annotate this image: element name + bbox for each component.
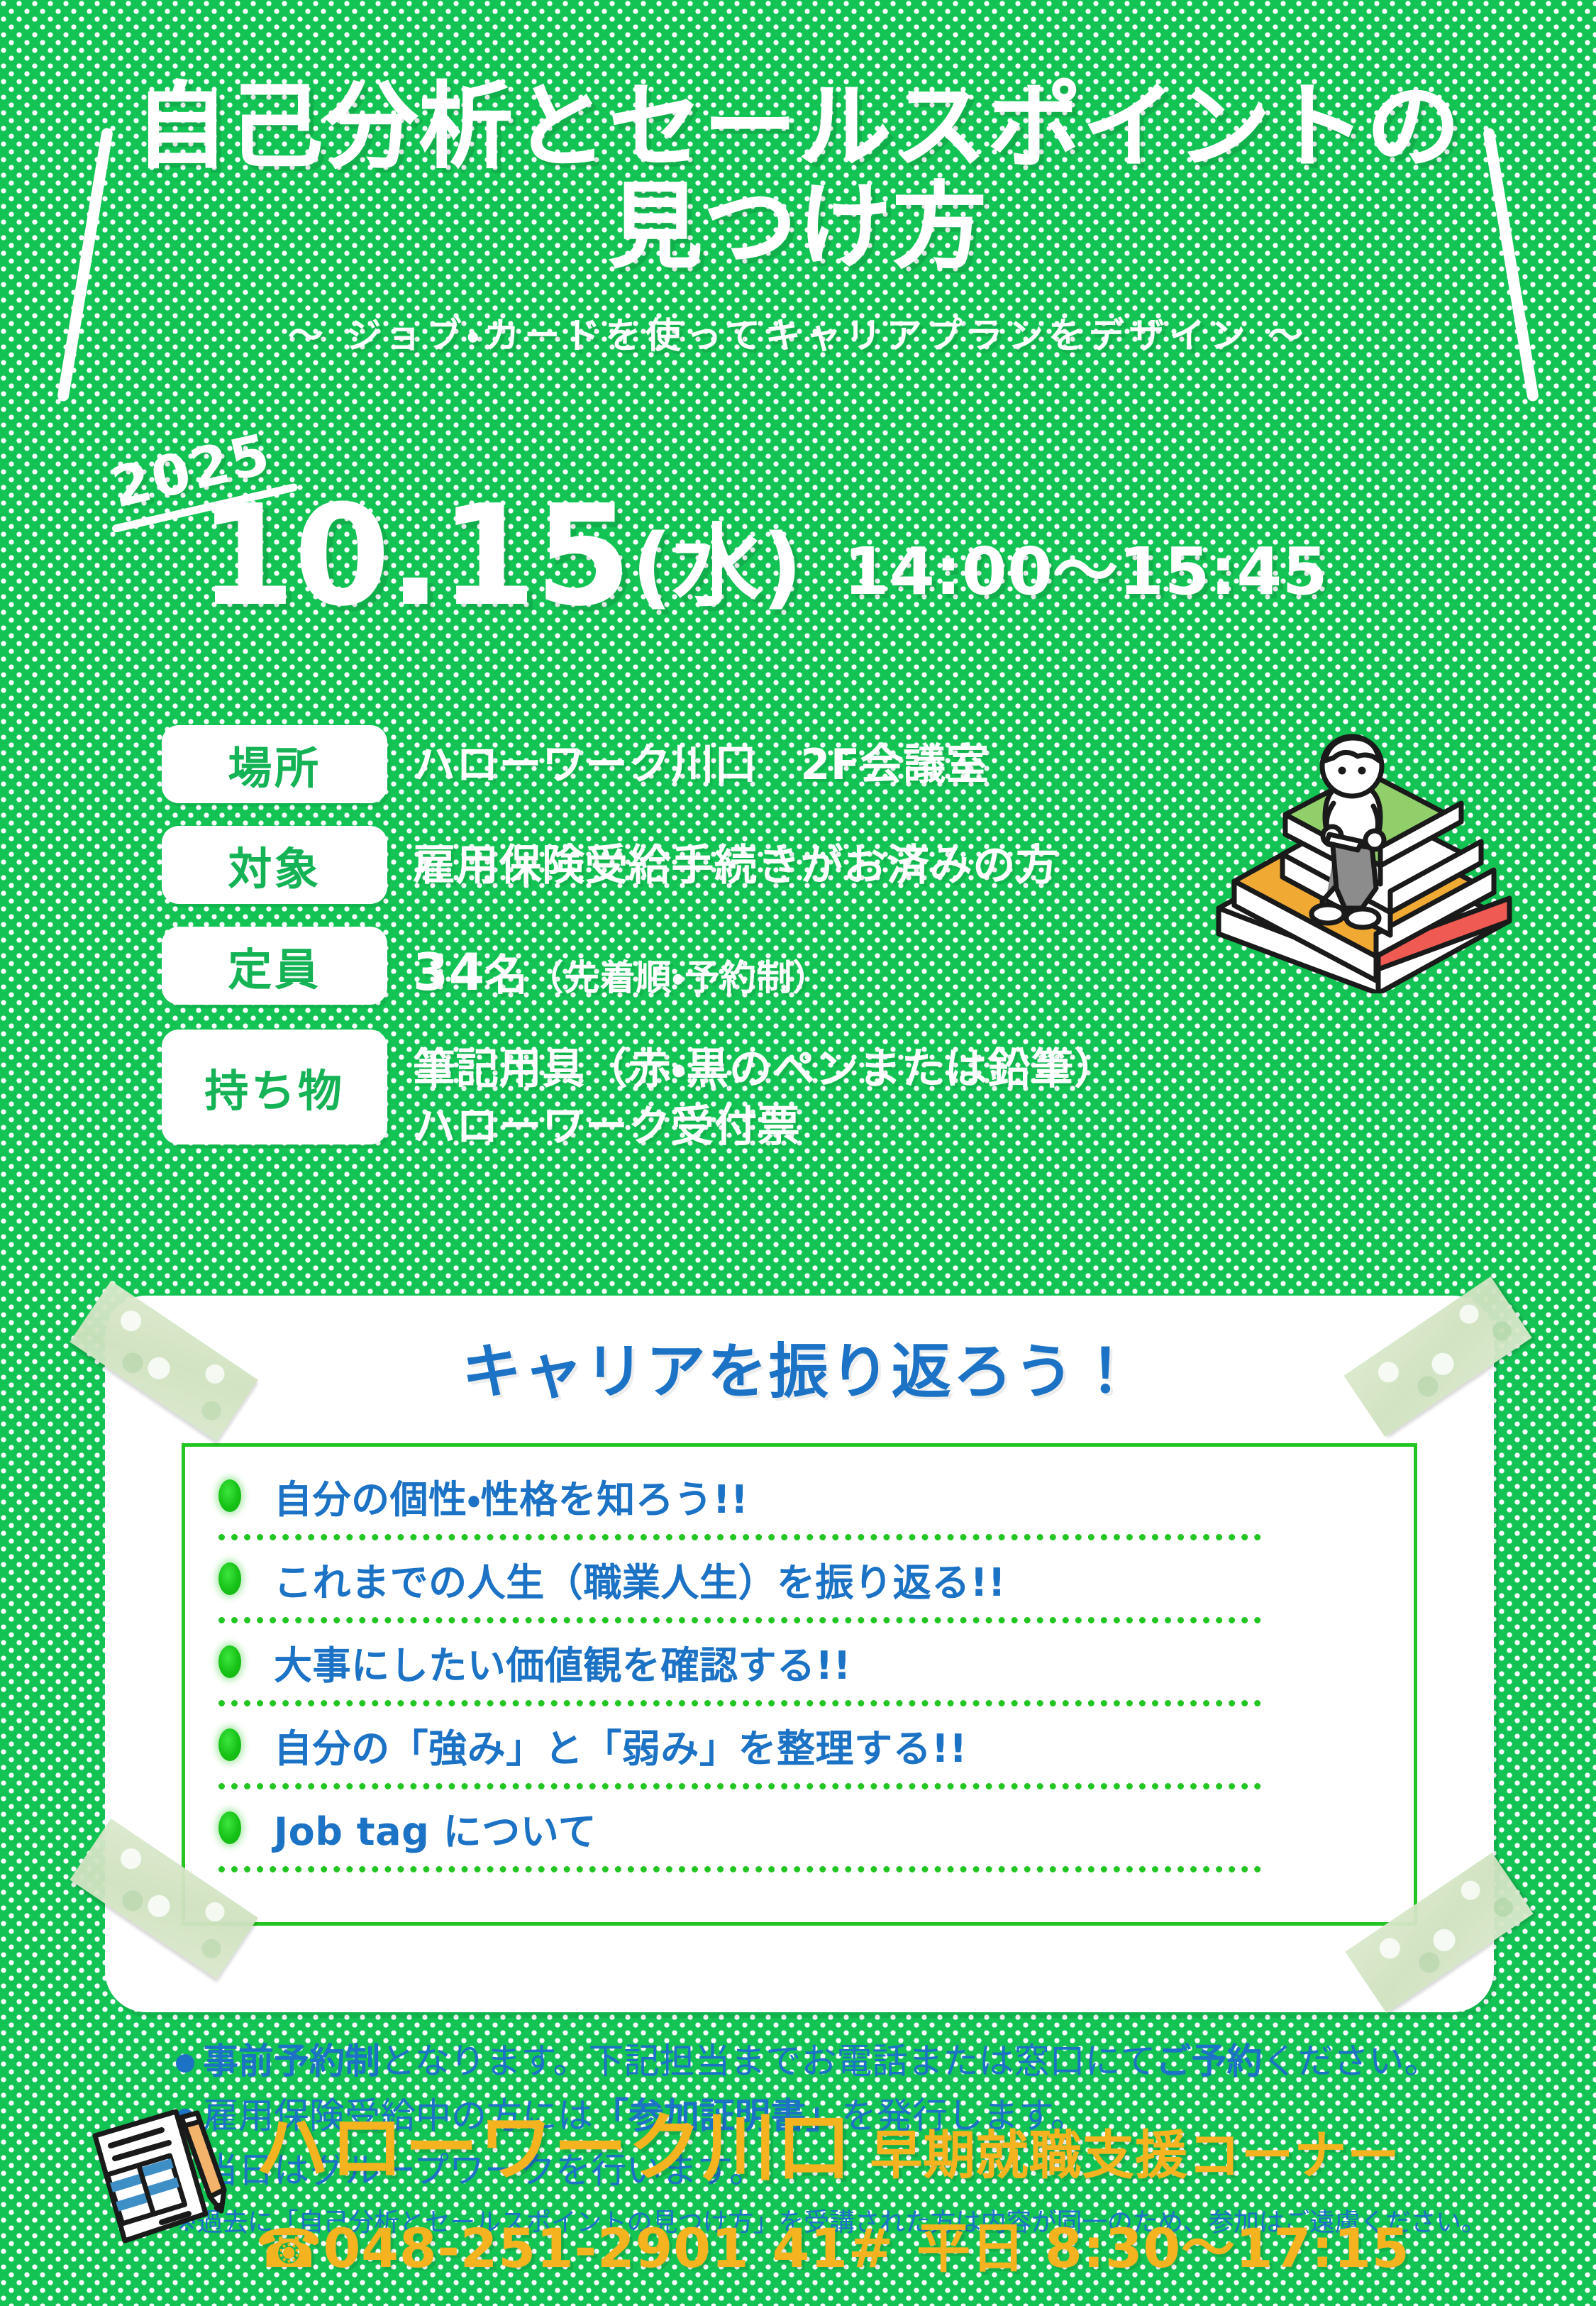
document-with-pencil-icon [85,2102,234,2251]
bullet-dot-icon [218,1728,241,1761]
info-value-bring: 筆記用具（赤・黒のペンまたは鉛筆） ハローワーク受付票 [387,1030,1197,1156]
footer-phone-number: 048-251-2901 [323,2217,749,2280]
info-label-venue: 場所 [162,725,387,803]
footer-text-group: ハローワーク川口 早期就職支援コーナー ☎048-251-290141#平日 8… [255,2087,1409,2283]
bullet-dot-icon [218,1811,241,1844]
poster-title-line-1: 自己分析とセールスポイントの [0,79,1596,175]
list-item-label: これまでの人生（職業人生）を振り返る!! [274,1551,1006,1607]
bring-line-2: ハローワーク受付票 [413,1098,1197,1156]
footer-extension: 41# [772,2217,894,2280]
event-time: 14:00〜15:45 [843,539,1328,619]
list-item-label: 自分の「強み」と「弱み」を整理する!! [274,1717,968,1773]
list-item: 大事にしたい価値観を確認する!! [218,1623,1382,1700]
info-label-audience: 対象 [162,826,387,904]
event-day-of-week: (水) [631,522,802,619]
event-date-block: 2025 10.15 (水) 14:00〜15:45 [106,451,1497,664]
info-row-bring: 持ち物 筆記用具（赤・黒のペンまたは鉛筆） ハローワーク受付票 [162,1030,1197,1156]
list-item: 自分の個性・性格を知ろう!! [218,1457,1382,1534]
bullet-dot-icon [218,1479,241,1512]
list-item-label: 大事にしたい価値観を確認する!! [274,1634,851,1690]
list-item: これまでの人生（職業人生）を振り返る!! [218,1540,1382,1617]
footer-organization: ハローワーク川口 [255,2087,851,2195]
footer-hours: 平日 8:30〜17:15 [916,2217,1409,2280]
bring-line-1: 筆記用具（赤・黒のペンまたは鉛筆） [413,1044,1117,1094]
list-item-label: 自分の個性・性格を知ろう!! [274,1468,748,1524]
list-item: 自分の「強み」と「弱み」を整理する!! [218,1706,1382,1783]
capacity-number: 34 [413,942,485,1002]
person-on-books-illustration [1197,695,1531,993]
capacity-note: （先着順・予約制） [528,957,828,998]
poster-subtitle: 〜 ジョブ・カードを使ってキャリアプランをデザイン 〜 [0,307,1596,358]
list-item-label: Job tag について [274,1800,597,1856]
info-row-venue: 場所 ハローワーク川口 2F会議室 [162,725,1197,803]
info-value-audience: 雇用保険受給手続きがお済みの方 [387,826,1197,895]
poster-title-line-2: 見つけ方 [0,180,1596,275]
list-separator [218,1783,1261,1789]
panel-heading: キャリアを振り返ろう！ [105,1296,1494,1410]
telephone-icon: ☎ [255,2217,323,2280]
footer-contact-row: ☎048-251-290141#平日 8:30〜17:15 [255,2205,1409,2283]
capacity-unit: 名 [485,951,528,1000]
poster-canvas: 自己分析とセールスポイントの 見つけ方 〜 ジョブ・カードを使ってキャリアプラン… [0,0,1596,2306]
info-row-capacity: 定員 34名（先着順・予約制） [162,927,1197,1007]
career-review-panel: キャリアを振り返ろう！ 自分の個性・性格を知ろう!! これまでの人生（職業人生）… [105,1296,1494,2012]
bullet-dot-icon [218,1645,241,1678]
event-date-row: 10.15 (水) 14:00〜15:45 [199,494,1328,619]
info-label-capacity: 定員 [162,927,387,1005]
info-row-audience: 対象 雇用保険受給手続きがお済みの方 [162,826,1197,904]
footer-org-row: ハローワーク川口 早期就職支援コーナー [255,2087,1409,2195]
info-value-venue: ハローワーク川口 2F会議室 [387,725,1197,794]
event-date: 10.15 [199,494,630,619]
footer-department: 早期就職支援コーナー [870,2113,1400,2189]
info-value-capacity: 34名（先着順・予約制） [387,927,1197,1007]
event-info-list: 場所 ハローワーク川口 2F会議室 対象 雇用保険受給手続きがお済みの方 定員 … [162,725,1197,1156]
footer-contact-block: ハローワーク川口 早期就職支援コーナー ☎048-251-290141#平日 8… [0,2069,1596,2275]
list-item: Job tag について [218,1789,1382,1866]
list-separator [218,1700,1261,1706]
list-separator [218,1534,1261,1540]
title-block: 自己分析とセールスポイントの 見つけ方 〜 ジョブ・カードを使ってキャリアプラン… [0,43,1596,412]
list-separator [218,1866,1261,1872]
info-label-bring: 持ち物 [162,1030,387,1144]
bullet-dot-icon [218,1562,241,1595]
list-separator [218,1617,1261,1623]
panel-topic-list: 自分の個性・性格を知ろう!! これまでの人生（職業人生）を振り返る!! 大事にし… [218,1457,1382,1872]
